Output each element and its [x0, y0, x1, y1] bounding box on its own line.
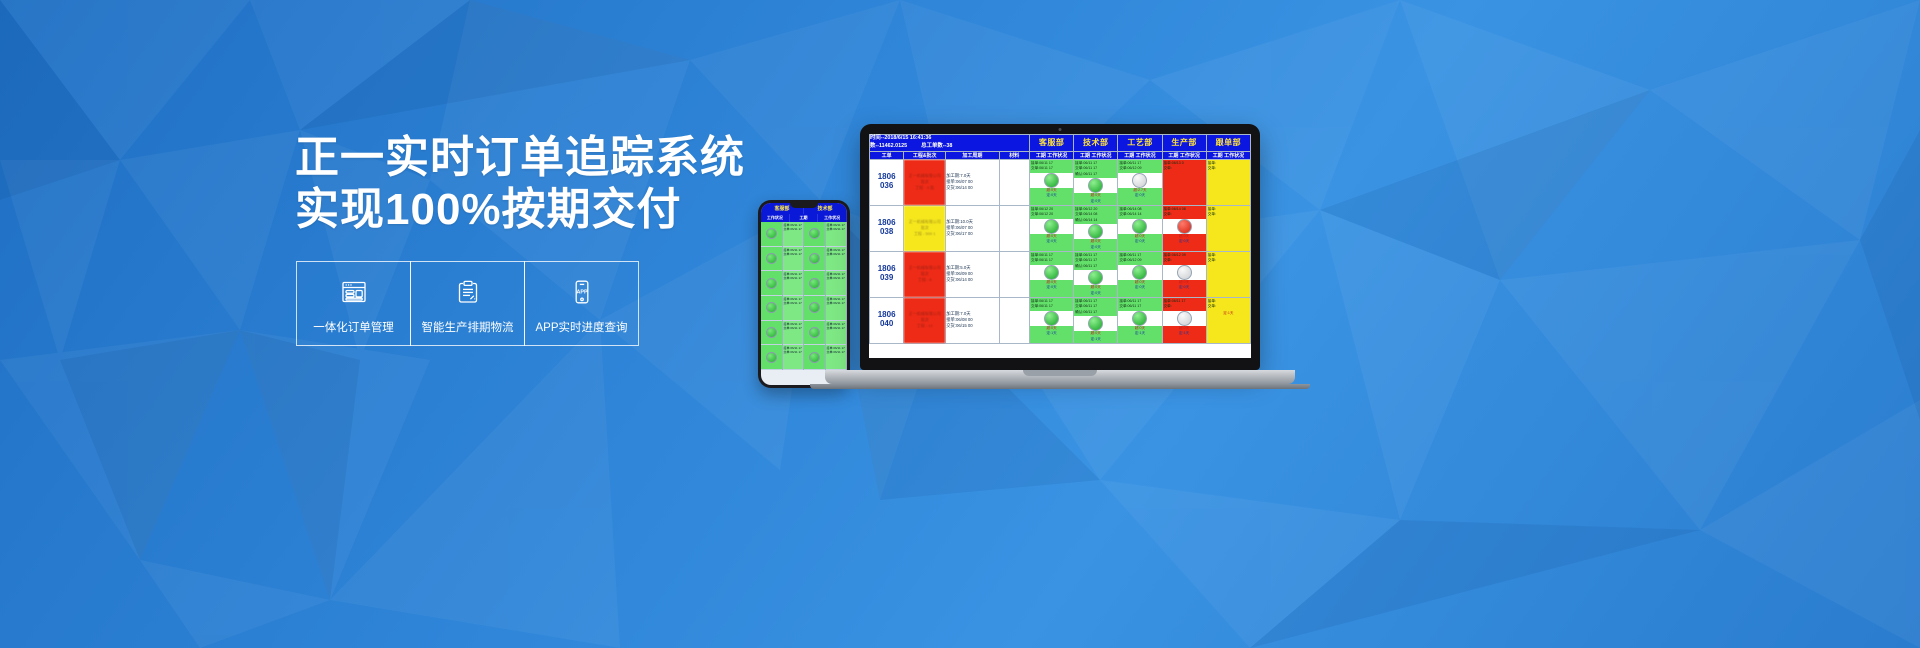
- fixed-days: 定:0天: [1074, 245, 1117, 250]
- material-cell[interactable]: [999, 205, 1029, 251]
- status-light-holder: [1074, 224, 1117, 239]
- fixed-days: 定:1天: [1074, 337, 1117, 342]
- status-light-green-icon: [766, 278, 777, 289]
- phone-status-cell[interactable]: [804, 271, 825, 296]
- laptop-screen: 时间--2018/6/15 16:41:36 数--11462.0125 总工单…: [869, 134, 1251, 358]
- dept-dates: 接单:06/13 0 交单:: [1163, 160, 1206, 173]
- status-light-green-icon: [766, 302, 777, 313]
- fixed-days: 定:0天: [1030, 285, 1073, 290]
- dept-dates: 接单:06/11 17 交单:06/12 09: [1118, 160, 1161, 173]
- dept-day-metrics: 超:0天定:0天: [1118, 280, 1161, 291]
- status-light-green-icon: [809, 302, 820, 313]
- dept-status-cell[interactable]: 接单:06/11 17 交单:06/11 17超:0天定:0天: [1029, 251, 1073, 297]
- status-light-green-icon: [1088, 316, 1103, 331]
- dept-dates: 接单: 交单:: [1207, 298, 1250, 311]
- col-cycle: 加工周期: [946, 151, 999, 159]
- dept-dates: 接单:06/11 17 交单:06/11 17 确认:06/11 17: [1074, 298, 1117, 317]
- status-light-grey-icon: [1132, 173, 1147, 188]
- phone-status-cell[interactable]: [761, 321, 782, 346]
- status-light-holder: [1118, 219, 1161, 234]
- status-light-holder: [1163, 265, 1206, 280]
- dept-status-cell[interactable]: 接单:06/12 20 交单:06/14 08 确认:06/14 14超:0天定…: [1074, 205, 1118, 251]
- status-light-green-icon: [1044, 311, 1059, 326]
- col-dept-pair: 工期 工作状况: [1029, 151, 1073, 159]
- status-light-holder: [1030, 219, 1073, 234]
- cycle-cell[interactable]: 加工期:7.0天 接单:06/07 00 交货:06/14 00: [946, 159, 999, 205]
- dept-status-cell[interactable]: 接单:06/11 17 交单:06/11 17 确认:06/11 17超:0天定…: [1074, 251, 1118, 297]
- dept-dates: 接单: 交单:: [1207, 206, 1250, 219]
- fixed-days: 定:0天: [1118, 239, 1161, 244]
- status-light-green-icon: [1088, 224, 1103, 239]
- status-light-green-icon: [1044, 173, 1059, 188]
- status-light-grey-icon: [1177, 265, 1192, 280]
- status-light-holder: [1163, 219, 1206, 234]
- feature-label: 一体化订单管理: [313, 319, 394, 335]
- fixed-days: 定:0天: [1118, 193, 1161, 198]
- material-cell[interactable]: [999, 251, 1029, 297]
- system-time: 时间--2018/6/15 16:41:36: [870, 135, 1029, 143]
- headline-line-2: 实现100%按期交付: [295, 184, 715, 236]
- dept-dates: 接单:06/11 17 交单:06/11 17: [1030, 298, 1073, 311]
- dept-header-production: 生产部: [1162, 135, 1206, 152]
- phone-date-cell[interactable]: 接单:06/11 17 交单:06/11 17: [826, 321, 847, 346]
- phone-status-cell[interactable]: [804, 321, 825, 346]
- phone-date-cell[interactable]: 接单:06/11 17 交单:06/11 17: [783, 345, 804, 370]
- material-cell[interactable]: [999, 297, 1029, 343]
- status-light-green-icon: [1132, 219, 1147, 234]
- table-rows-host: 1806 036正一机械有限公司 批次 工程 - 3 批加工期:7.0天 接单:…: [870, 159, 1251, 343]
- dept-dates: 接单:06/11 17 交单:06/11 17: [1030, 160, 1073, 173]
- over-days: 定:1天: [1207, 311, 1250, 316]
- phone-status-cell[interactable]: [804, 247, 825, 272]
- dept-header-process: 工艺部: [1118, 135, 1162, 152]
- phone-date-cell[interactable]: 接单:06/11 17 交单:06/11 17: [783, 271, 804, 296]
- mobile-app-icon: APP: [567, 272, 597, 312]
- dept-dates: 接单: 交单:: [1207, 160, 1250, 173]
- material-cell[interactable]: [999, 159, 1029, 205]
- col-work-order: 工单: [870, 151, 904, 159]
- dept-day-metrics: 超:0天定:0天: [1163, 234, 1206, 245]
- work-order-cell[interactable]: 1806 040: [870, 297, 904, 343]
- dept-day-metrics: 超:0天定:0天: [1163, 280, 1206, 291]
- fixed-days: 定:0天: [1074, 199, 1117, 204]
- fixed-days: 定:1天: [1118, 331, 1161, 336]
- fixed-days: 定:0天: [1074, 291, 1117, 296]
- status-light-green-icon: [1044, 219, 1059, 234]
- table-row[interactable]: 1806 040正一机械有限公司 批次 工程 - 12加工期:7.0天 接单:0…: [870, 297, 1251, 343]
- fixed-days: 定:0天: [1030, 239, 1073, 244]
- phone-status-column: [761, 222, 783, 370]
- laptop-base-notch: [1023, 370, 1097, 376]
- dept-day-metrics: 超:0天定:0天: [1030, 188, 1073, 199]
- laptop-mockup: 时间--2018/6/15 16:41:36 数--11462.0125 总工单…: [860, 124, 1260, 384]
- status-light-green-icon: [766, 228, 777, 239]
- work-order-cell[interactable]: 1806 038: [870, 205, 904, 251]
- col-material: 材料: [999, 151, 1029, 159]
- status-light-green-icon: [766, 327, 777, 338]
- dept-status-cell[interactable]: 接单:06/14 08 交单:超:0天定:0天: [1162, 205, 1206, 251]
- dept-day-metrics: 定:1天: [1207, 311, 1250, 316]
- fixed-days: 定:0天: [1163, 239, 1206, 244]
- table-row[interactable]: 1806 036正一机械有限公司 批次 工程 - 3 批加工期:7.0天 接单:…: [870, 159, 1251, 205]
- status-light-holder: [1074, 178, 1117, 193]
- dept-status-cell[interactable]: 接单:06/11 17 交单:06/11 17 确认:06/11 17超:0天定…: [1074, 159, 1118, 205]
- phone-column-label: 工期: [790, 214, 819, 222]
- dept-status-cell[interactable]: 接单:06/11 17 交单:06/11 17超:0天定:1天: [1029, 297, 1073, 343]
- cycle-cell[interactable]: 加工期:7.0天 接单:06/08 00 交货:06/15 00: [946, 297, 999, 343]
- dept-dates: 接单:06/11 17 交单:06/11 17: [1030, 252, 1073, 265]
- dashboard-window-icon: [339, 272, 369, 312]
- col-dept-pair: 工期 工作状况: [1074, 151, 1118, 159]
- phone-table-body: 接单:06/11 17 交单:06/11 17 接单:06/11 17 交单:0…: [761, 222, 847, 370]
- dept-status-cell[interactable]: 接单: 交单:定:1天: [1206, 297, 1250, 343]
- dept-dates: 接单:06/11 17 交单:: [1163, 298, 1206, 311]
- dept-dates: 接单:06/14 08 交单:06/14 14: [1118, 206, 1161, 219]
- promo-banner: 正一实时订单追踪系统 实现100%按期交付 一体化订单管理: [0, 0, 1920, 648]
- status-light-red-icon: [1177, 219, 1192, 234]
- phone-date-column: 接单:06/11 17 交单:06/11 17 接单:06/11 17 交单:0…: [826, 222, 848, 370]
- order-tracking-table: 时间--2018/6/15 16:41:36 数--11462.0125 总工单…: [869, 134, 1251, 344]
- dept-day-metrics: 超:0天定:1天: [1074, 331, 1117, 342]
- phone-status-column: [804, 222, 826, 370]
- laptop-base: [825, 370, 1295, 384]
- dept-header-customer-service: 客服部: [1029, 135, 1073, 152]
- table-column-header-row: 工单 工程&批次 加工周期 材料 工期 工作状况 工期 工作状况 工期: [870, 151, 1251, 159]
- phone-date-cell[interactable]: 接单:06/11 17 交单:06/11 17: [826, 296, 847, 321]
- dept-header-technology: 技术部: [1074, 135, 1118, 152]
- dept-dates: 接单: 交单:: [1207, 252, 1250, 265]
- work-order-cell[interactable]: 1806 039: [870, 251, 904, 297]
- headline-block: 正一实时订单追踪系统 实现100%按期交付: [295, 132, 715, 236]
- fixed-days: 定:0天: [1030, 193, 1073, 198]
- status-light-green-icon: [766, 253, 777, 264]
- dept-day-metrics: 超:0天定:0天: [1074, 239, 1117, 250]
- table-row[interactable]: 1806 039正一机械有限公司 批次 工程 - 8加工期:5.0天 接单:06…: [870, 251, 1251, 297]
- phone-status-cell[interactable]: [804, 222, 825, 247]
- dept-status-cell[interactable]: 接单: 交单:: [1206, 159, 1250, 205]
- headline-line-1: 正一实时订单追踪系统: [295, 132, 715, 184]
- phone-date-cell[interactable]: 接单:06/11 17 交单:06/11 17: [826, 271, 847, 296]
- status-light-green-icon: [766, 352, 777, 363]
- dept-status-cell[interactable]: 接单: 交单:: [1206, 205, 1250, 251]
- status-light-holder: [1074, 270, 1117, 285]
- phone-date-cell[interactable]: 接单:06/11 17 交单:06/11 17: [783, 321, 804, 346]
- status-light-holder: [1030, 311, 1073, 326]
- dept-dates: 接单:06/11 17 交单:06/11 17: [1118, 298, 1161, 311]
- status-light-green-icon: [1132, 311, 1147, 326]
- dept-dates: 接单:06/14 08 交单:: [1163, 206, 1206, 219]
- dept-status-cell[interactable]: 接单:06/11 17 交单:06/11 17 确认:06/11 17超:0天定…: [1074, 297, 1118, 343]
- fixed-days: 定:0天: [1118, 285, 1161, 290]
- laptop-lid: 时间--2018/6/15 16:41:36 数--11462.0125 总工单…: [860, 124, 1260, 370]
- phone-date-cell[interactable]: 接单:06/11 17 交单:06/11 17: [783, 296, 804, 321]
- feature-box-order-management[interactable]: 一体化订单管理: [296, 261, 411, 346]
- phone-status-cell[interactable]: [761, 345, 782, 370]
- dept-day-metrics: 超:0天定:0天: [1118, 234, 1161, 245]
- dept-day-metrics: 超:0天定:0天: [1030, 234, 1073, 245]
- status-light-green-icon: [809, 278, 820, 289]
- status-light-green-icon: [1132, 265, 1147, 280]
- cycle-cell[interactable]: 加工期:5.0天 接单:06/09 00 交货:06/14 00: [946, 251, 999, 297]
- status-light-green-icon: [809, 352, 820, 363]
- status-light-holder: [1074, 316, 1117, 331]
- cycle-cell[interactable]: 加工期:10.0天 接单:06/07 00 交货:06/17 00: [946, 205, 999, 251]
- phone-screen: 客服部 技术部 工作状况 工期 工作状况 接单:06/11 17 交单:0: [761, 203, 847, 385]
- dept-day-metrics: 超:2.7天定:0天: [1118, 188, 1161, 199]
- laptop-base-foot: [810, 384, 1310, 389]
- dept-day-metrics: 超:0天定:0天: [1030, 280, 1073, 291]
- status-light-holder: [1030, 265, 1073, 280]
- dept-day-metrics: 超:0天定:1天: [1163, 326, 1206, 337]
- dept-status-cell[interactable]: 接单: 交单:: [1206, 251, 1250, 297]
- dept-status-cell[interactable]: 接单:06/11 17 交单:超:0天定:1天: [1162, 297, 1206, 343]
- dept-day-metrics: 超:0天定:1天: [1030, 326, 1073, 337]
- status-light-green-icon: [1088, 270, 1103, 285]
- phone-date-column: 接单:06/11 17 交单:06/11 17 接单:06/11 17 交单:0…: [783, 222, 805, 370]
- webcam-icon: [1059, 128, 1062, 131]
- phone-date-cell[interactable]: 接单:06/11 17 交单:06/11 17: [783, 247, 804, 272]
- dept-dates: 接单:06/11 17 交单:06/12 09: [1118, 252, 1161, 265]
- dept-day-metrics: 超:0天定:0天: [1074, 285, 1117, 296]
- feature-box-row: 一体化订单管理 智能生产排期物流: [296, 261, 638, 346]
- project-batch-cell[interactable]: 正一机械有限公司 批次 工程 - 3 批: [904, 159, 946, 205]
- feature-label: APP实时进度查询: [535, 319, 627, 335]
- col-project-batch: 工程&批次: [904, 151, 946, 159]
- phone-date-cell[interactable]: 接单:06/11 17 交单:06/11 17: [783, 222, 804, 247]
- fixed-days: 定:0天: [1163, 285, 1206, 290]
- dept-status-cell[interactable]: 接单:06/13 0 交单:: [1162, 159, 1206, 205]
- app-icon-text: APP: [576, 290, 587, 296]
- dept-status-cell[interactable]: 接单:06/11 17 交单:06/11 17超:0天定:1天: [1118, 297, 1162, 343]
- phone-status-cell[interactable]: [761, 296, 782, 321]
- dept-status-cell[interactable]: 接单:06/11 17 交单:06/12 09超:0天定:0天: [1118, 251, 1162, 297]
- phone-column-label: 工作状况: [818, 214, 847, 222]
- status-light-holder: [1118, 311, 1161, 326]
- dept-status-cell[interactable]: 接单:06/11 17 交单:06/12 09超:2.7天定:0天: [1118, 159, 1162, 205]
- dept-status-cell[interactable]: 接单:06/11 17 交单:06/11 17超:0天定:0天: [1029, 159, 1073, 205]
- fixed-days: 定:1天: [1030, 331, 1073, 336]
- dept-dates: 接单:06/11 17 交单:06/11 17 确认:06/11 17: [1074, 252, 1117, 271]
- total-orders: 总工单数--38: [921, 143, 952, 151]
- phone-notch: [790, 203, 818, 208]
- work-order-cell[interactable]: 1806 036: [870, 159, 904, 205]
- status-light-holder: [1118, 173, 1161, 188]
- phone-status-cell[interactable]: [761, 271, 782, 296]
- status-light-holder: [1030, 173, 1073, 188]
- dept-dates: 接单:06/12 20 交单:06/12 20: [1030, 206, 1073, 219]
- phone-column-label: 工作状况: [761, 214, 790, 222]
- status-light-green-icon: [809, 228, 820, 239]
- record-count: 数--11462.0125: [870, 143, 907, 151]
- phone-column-header: 工作状况 工期 工作状况: [761, 214, 847, 222]
- status-light-green-icon: [1044, 265, 1059, 280]
- fixed-days: 定:1天: [1163, 331, 1206, 336]
- phone-status-cell[interactable]: [804, 296, 825, 321]
- dept-dates: 接单:06/12 20 交单:06/14 08 确认:06/14 14: [1074, 206, 1117, 225]
- status-light-green-icon: [809, 253, 820, 264]
- table-meta-row: 时间--2018/6/15 16:41:36 数--11462.0125 总工单…: [870, 135, 1251, 152]
- phone-status-cell[interactable]: [761, 247, 782, 272]
- project-batch-cell[interactable]: 正一机械有限公司 批次 工程 - 500 1: [904, 205, 946, 251]
- status-light-holder: [1118, 265, 1161, 280]
- col-dept-pair: 工期 工作状况: [1206, 151, 1250, 159]
- dept-status-cell[interactable]: 接单:06/14 08 交单:06/14 14超:0天定:0天: [1118, 205, 1162, 251]
- dept-dates: 接单:06/11 17 交单:06/11 17 确认:06/11 17: [1074, 160, 1117, 179]
- clipboard-checklist-icon: [453, 272, 483, 312]
- phone-date-cell[interactable]: 接单:06/11 17 交单:06/11 17: [826, 222, 847, 247]
- phone-date-cell[interactable]: 接单:06/11 17 交单:06/11 17: [826, 345, 847, 370]
- dept-header-followup: 跟单部: [1206, 135, 1250, 152]
- status-light-green-icon: [1088, 178, 1103, 193]
- feature-box-app-progress-query[interactable]: APP APP实时进度查询: [524, 261, 639, 346]
- project-batch-cell[interactable]: 正一机械有限公司 批次 工程 - 12: [904, 297, 946, 343]
- phone-status-cell[interactable]: [804, 345, 825, 370]
- col-dept-pair: 工期 工作状况: [1162, 151, 1206, 159]
- phone-date-cell[interactable]: 接单:06/11 17 交单:06/11 17: [826, 247, 847, 272]
- table-row[interactable]: 1806 038正一机械有限公司 批次 工程 - 500 1加工期:10.0天 …: [870, 205, 1251, 251]
- status-light-green-icon: [809, 327, 820, 338]
- dept-day-metrics: 超:0天定:1天: [1118, 326, 1161, 337]
- dept-day-metrics: 超:0天定:0天: [1074, 193, 1117, 204]
- project-batch-cell[interactable]: 正一机械有限公司 批次 工程 - 8: [904, 251, 946, 297]
- phone-status-cell[interactable]: [761, 222, 782, 247]
- status-light-grey-icon: [1177, 311, 1192, 326]
- status-light-holder: [1163, 311, 1206, 326]
- dept-status-cell[interactable]: 接单:06/12 20 交单:06/12 20超:0天定:0天: [1029, 205, 1073, 251]
- phone-mockup: 客服部 技术部 工作状况 工期 工作状况 接单:06/11 17 交单:0: [758, 200, 850, 388]
- meta-info-cell: 时间--2018/6/15 16:41:36 数--11462.0125 总工单…: [870, 135, 1030, 152]
- dept-status-cell[interactable]: 接单:06/12 09 交单:超:0天定:0天: [1162, 251, 1206, 297]
- feature-box-production-scheduling[interactable]: 智能生产排期物流: [410, 261, 525, 346]
- feature-label: 智能生产排期物流: [422, 319, 514, 335]
- dept-dates: 接单:06/12 09 交单:: [1163, 252, 1206, 265]
- col-dept-pair: 工期 工作状况: [1118, 151, 1162, 159]
